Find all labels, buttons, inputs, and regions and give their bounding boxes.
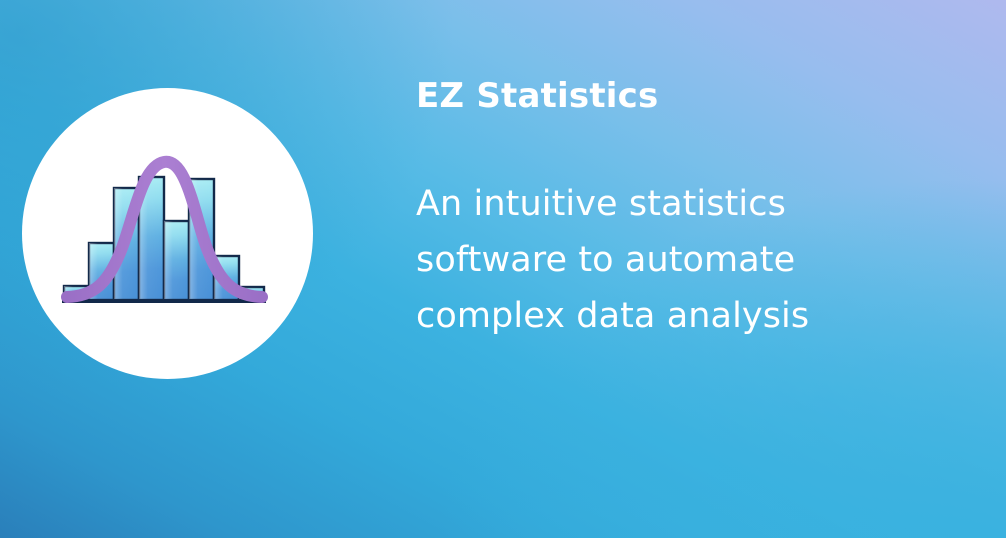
- text-block: EZ Statistics An intuitive statistics so…: [416, 74, 936, 344]
- histogram-bars: [64, 177, 264, 300]
- bar-5: [164, 221, 189, 300]
- histogram-bell-curve-icon: [22, 88, 313, 379]
- logo-badge: [22, 88, 313, 379]
- tagline-line-2: software to automate: [416, 232, 856, 288]
- page-title: EZ Statistics: [416, 74, 936, 118]
- tagline-line-3: complex data analysis: [416, 288, 856, 344]
- tagline: An intuitive statistics software to auto…: [416, 118, 856, 344]
- chart-baseline-axis: [62, 299, 266, 303]
- tagline-line-1: An intuitive statistics: [416, 176, 856, 232]
- promo-banner: EZ Statistics An intuitive statistics so…: [0, 0, 1006, 538]
